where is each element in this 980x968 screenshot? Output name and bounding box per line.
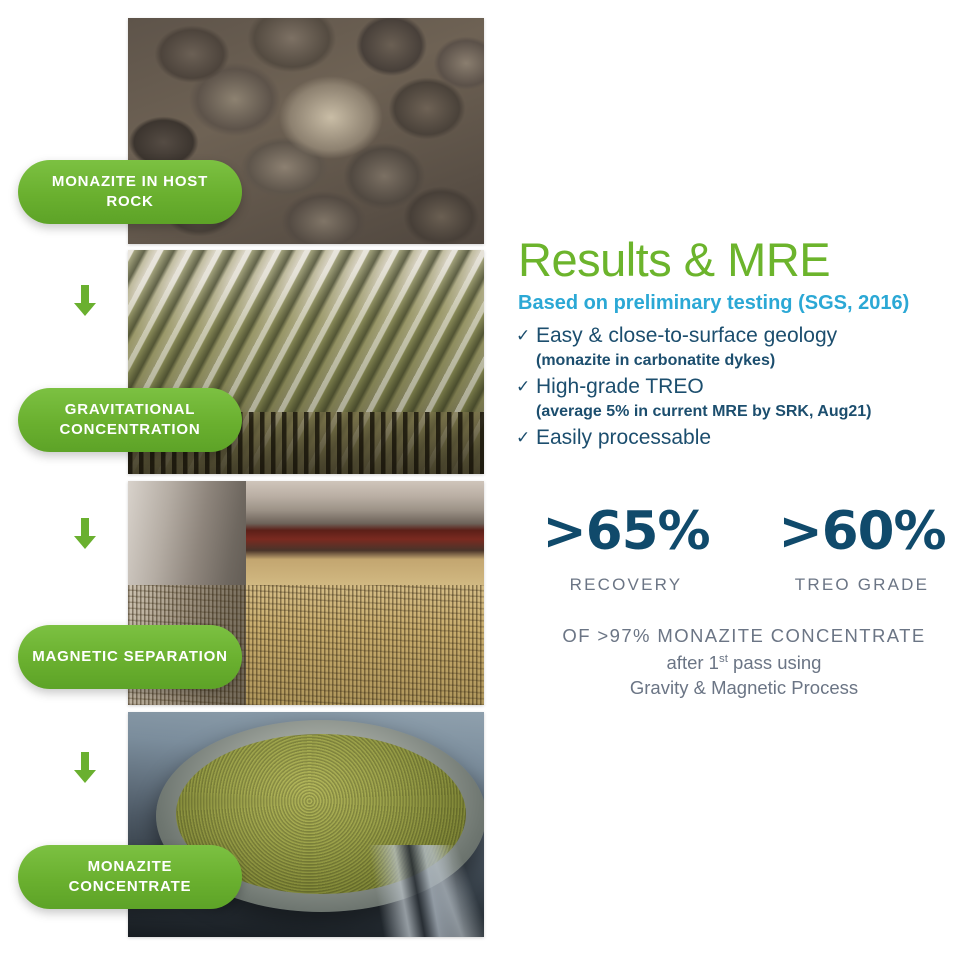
stat-value: >65%	[521, 505, 731, 558]
page-title: Results & MRE	[518, 232, 830, 287]
footnote-line-1: OF >97% MONAZITE CONCENTRATE	[508, 625, 980, 647]
bullet-main-text: High-grade TREO	[536, 373, 704, 400]
bullet-sub-text: (average 5% in current MRE by SRK, Aug21…	[536, 400, 976, 424]
jar-clasp-shape	[328, 845, 484, 937]
ordinal-suffix: st	[719, 653, 728, 665]
footnote-line-2-post: pass using	[728, 652, 822, 673]
checkmark-icon: ✓	[516, 424, 536, 451]
footnote-line-3: Gravity & Magnetic Process	[508, 677, 980, 699]
stat-value: >60%	[757, 505, 967, 558]
process-photo-column	[128, 0, 484, 968]
list-item: ✓ Easily processable	[516, 424, 976, 451]
results-panel: Results & MRE Based on preliminary testi…	[508, 0, 980, 968]
highlights-list: ✓ Easy & close-to-surface geology (monaz…	[516, 322, 976, 451]
footnote-line-2: after 1st pass using	[508, 652, 980, 674]
stage-label-monazite-in-host-rock: MONAZITE IN HOST ROCK	[18, 160, 242, 224]
arrow-down-icon	[73, 285, 97, 317]
stage-label-monazite-concentrate: MONAZITE CONCENTRATE	[18, 845, 242, 909]
stat-label: TREO GRADE	[757, 575, 967, 595]
stat-treo-grade: >60% TREO GRADE	[757, 505, 967, 595]
list-item: ✓ High-grade TREO	[516, 373, 976, 400]
footnote-block: OF >97% MONAZITE CONCENTRATE after 1st p…	[508, 625, 980, 699]
footnote-line-2-pre: after 1	[667, 652, 719, 673]
stat-label: RECOVERY	[521, 575, 731, 595]
checkmark-icon: ✓	[516, 322, 536, 349]
list-item: ✓ Easy & close-to-surface geology	[516, 322, 976, 349]
bullet-sub-text: (monazite in carbonatite dykes)	[536, 349, 976, 373]
bullet-main-text: Easily processable	[536, 424, 711, 451]
stage-label-gravitational-concentration: GRAVITATIONAL CONCENTRATION	[18, 388, 242, 452]
stage-label-magnetic-separation: MAGNETIC SEPARATION	[18, 625, 242, 689]
slide-root: MONAZITE IN HOST ROCK GRAVITATIONAL CONC…	[0, 0, 980, 968]
arrow-down-icon	[73, 518, 97, 550]
stats-row: >65% RECOVERY >60% TREO GRADE	[508, 505, 980, 595]
bullet-main-text: Easy & close-to-surface geology	[536, 322, 837, 349]
stat-recovery: >65% RECOVERY	[521, 505, 731, 595]
arrow-down-icon	[73, 752, 97, 784]
page-subtitle: Based on preliminary testing (SGS, 2016)	[518, 292, 909, 315]
checkmark-icon: ✓	[516, 373, 536, 400]
